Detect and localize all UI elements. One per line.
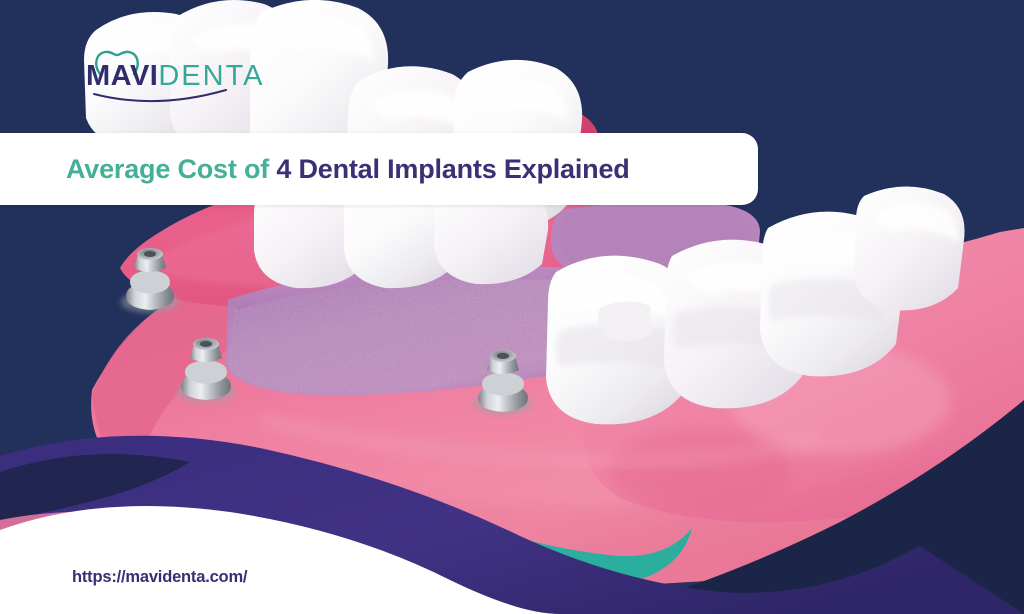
website-url[interactable]: https://mavidenta.com/ (72, 568, 247, 587)
title-banner: Average Cost of 4 Dental Implants Explai… (0, 133, 758, 205)
title-rest: 4 Dental Implants Explained (276, 154, 629, 184)
blog-banner-image: MAVIDENTA Average Cost of 4 Dental Impla… (0, 0, 1024, 614)
title-highlight: Average Cost of (66, 154, 276, 184)
decorative-waves (0, 0, 1024, 614)
page-title: Average Cost of 4 Dental Implants Explai… (66, 156, 630, 183)
